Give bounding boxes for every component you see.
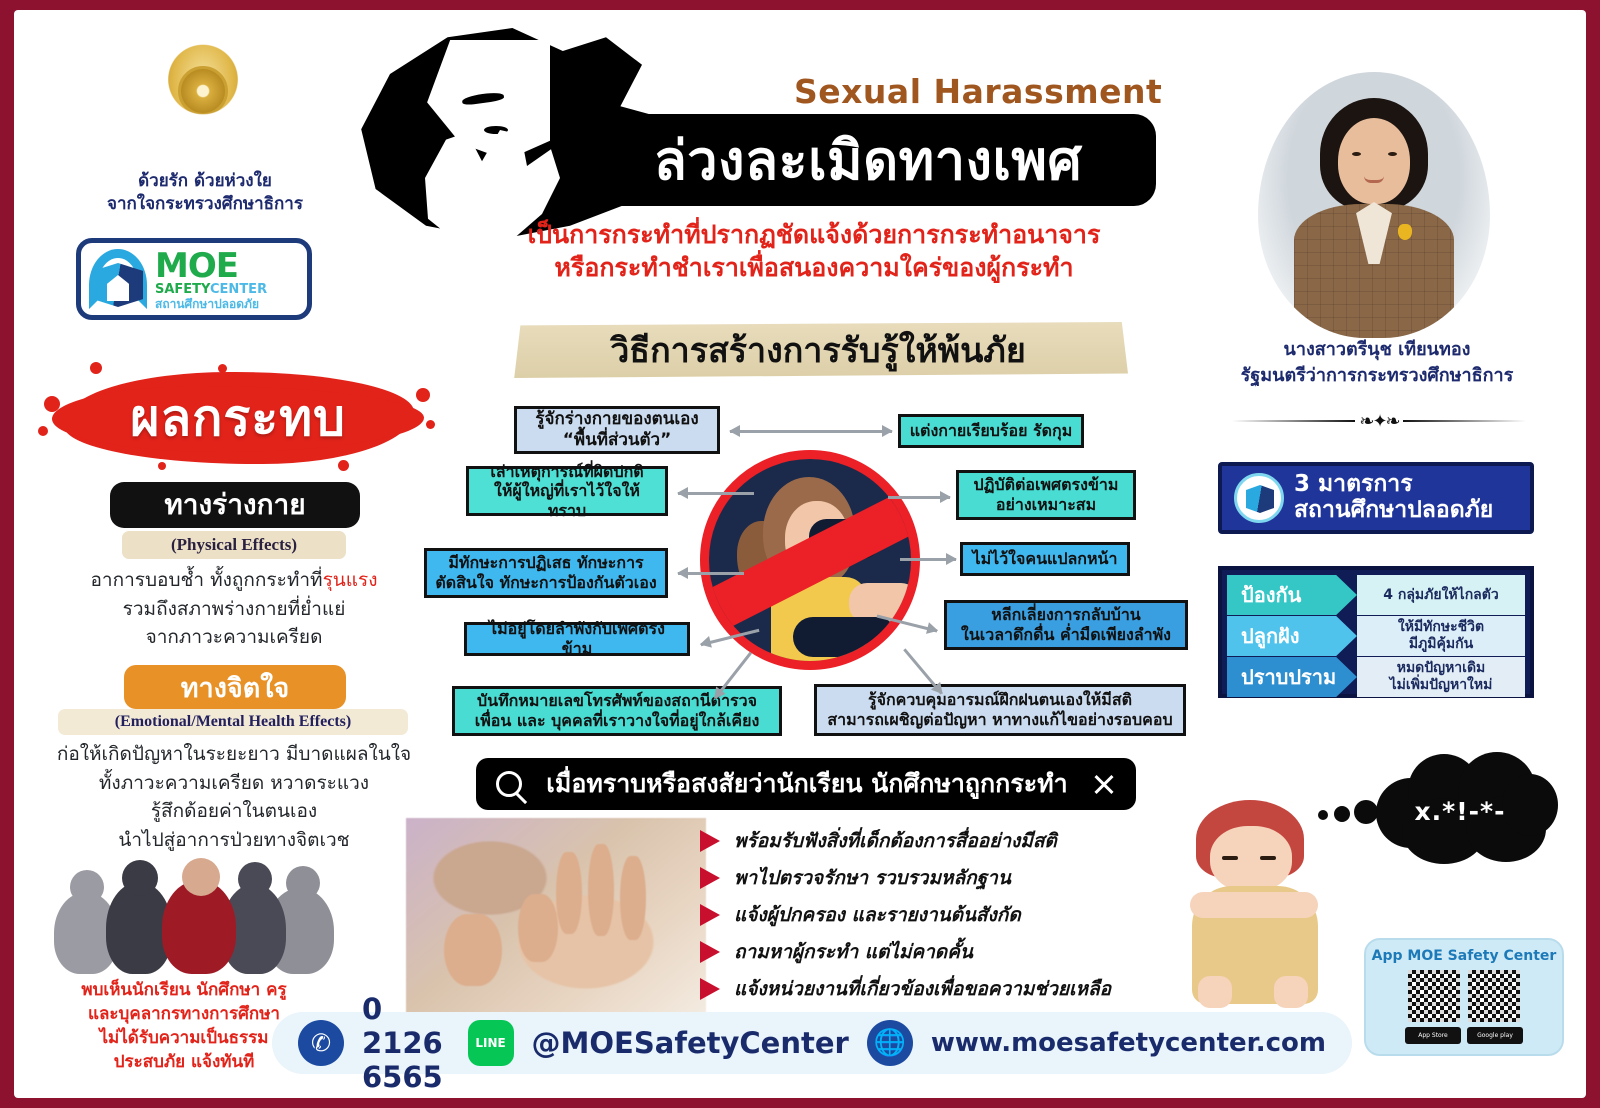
list-item: พร้อมรับฟังสิ่งที่เด็กต้องการสื่ออย่างมี… xyxy=(700,822,1170,859)
moe-safety-center-logo: MOE SAFETYCENTER สถานศึกษาปลอดภัย xyxy=(76,238,312,320)
sad-people-illustration xyxy=(54,858,354,973)
line-id[interactable]: @MOESafetyCenter xyxy=(532,1026,849,1060)
physical-effects-subtitle: (Physical Effects) xyxy=(122,531,346,559)
physical-line-1-highlight: รุนแรง xyxy=(323,569,378,591)
definition-line-2: หรือกระทำชำเราเพื่อสนองความใคร่ของผู้กระ… xyxy=(454,251,1174,284)
google-play-badge[interactable]: Google play xyxy=(1467,1027,1523,1044)
node-right-4-line1: รู้จักควบคุมอารมณ์ฝึกฝนตนเองให้มีสติ xyxy=(868,690,1132,710)
effects-heading-badge: ผลกระทบ xyxy=(38,362,438,474)
node-left-1-line2: ให้ผู้ใหญ่ที่เราไว้ใจให้ทราบ xyxy=(477,481,657,520)
logo-safety-text: SAFETY xyxy=(155,282,210,297)
measure-value-2-line2: ไม่เพิ่มปัญหาใหม่ xyxy=(1390,677,1493,694)
arrow-right-1 xyxy=(888,496,950,499)
bullet-arrow-icon xyxy=(700,830,720,852)
bullet-arrow-icon xyxy=(700,941,720,963)
arrow-left-0 xyxy=(730,430,826,433)
bullet-arrow-icon xyxy=(700,978,720,1000)
response-banner: เมื่อทราบหรือสงสัยว่านักเรียน นักศึกษาถู… xyxy=(476,758,1136,810)
node-left-1-line1: เล่าเหตุการณ์ที่ผิดปกติ xyxy=(490,462,643,482)
measures-header-line-2: สถานศึกษาปลอดภัย xyxy=(1294,498,1493,524)
search-icon xyxy=(496,771,522,797)
measure-row-instill: ปลูกฝัง ให้มีทักษะชีวิต มีภูมิคุ้มกัน xyxy=(1227,616,1525,656)
measure-label-2: ปราบปราม xyxy=(1227,657,1357,697)
measure-label-0: ป้องกัน xyxy=(1227,575,1357,615)
node-left-2-line2: ตัดสินใจ ทักษะการป้องกันตัวเอง xyxy=(435,573,656,593)
emotional-line-3: รู้สึกด้อยค่าในตนเอง xyxy=(32,797,436,826)
node-right-3-line1: หลีกเลี่ยงการกลับบ้าน xyxy=(991,605,1141,625)
response-banner-text: เมื่อทราบหรือสงสัยว่านักเรียน นักศึกษาถู… xyxy=(534,764,1080,804)
prevention-node-left-1: เล่าเหตุการณ์ที่ผิดปกติ ให้ผู้ใหญ่ที่เรา… xyxy=(466,466,668,516)
emotional-effects-subtitle: (Emotional/Mental Health Effects) xyxy=(58,709,408,735)
minister-position-text: รัฐมนตรีว่าการกระทรวงศึกษาธิการ xyxy=(1224,363,1530,389)
prevention-banner-text: วิธีการสร้างการรับรู้ให้พ้นภัย xyxy=(610,323,1026,377)
prevention-node-right-1: ปฏิบัติต่อเพศตรงข้าม อย่างเหมาะสม xyxy=(956,470,1136,520)
node-left-0-line1: รู้จักร่างกายของตนเอง xyxy=(535,409,698,430)
node-right-3-line2: ในเวลาดึกดื่น ค่ำมืดเพียงลำพัง xyxy=(961,625,1171,645)
node-left-0-line2: “พื้นที่ส่วนตัว” xyxy=(563,430,672,451)
website-url[interactable]: www.moesafetycenter.com xyxy=(931,1028,1326,1058)
arrow-left-1 xyxy=(678,492,754,495)
ministry-emblem-icon xyxy=(148,36,258,164)
line-icon: LINE xyxy=(468,1020,514,1066)
node-right-2-line1: ไม่ไว้ใจคนแปลกหน้า xyxy=(973,549,1118,569)
shield-icon xyxy=(89,249,147,309)
node-left-4-line2: เพื่อน และ บุคคลที่เราวางใจที่อยู่ใกล้เค… xyxy=(475,711,760,731)
contact-bar: ✆ 0 2126 6565 LINE @MOESafetyCenter 🌐 ww… xyxy=(272,1012,1352,1074)
qr-code-ios[interactable] xyxy=(1408,970,1460,1022)
node-right-4-line2: สามารถเผชิญต่อปัญหา หาทางแก้ไขอย่างรอบคอ… xyxy=(827,710,1172,730)
logo-center-text: CENTER xyxy=(210,282,267,297)
measure-value-0-line1: 4 กลุ่มภัยให้ไกลตัว xyxy=(1383,587,1498,604)
three-measures-header: 3 มาตรการ สถานศึกษาปลอดภัย xyxy=(1218,462,1534,534)
english-title: Sexual Harassment xyxy=(794,72,1162,111)
arrow-left-2 xyxy=(678,572,744,575)
prevention-node-left-2: มีทักษะการปฏิเสธ ทักษะการ ตัดสินใจ ทักษะ… xyxy=(424,548,668,598)
thought-bubble: x.*!-*- xyxy=(1362,752,1558,870)
emotional-line-4: นำไปสู่อาการป่วยทางจิตเวช xyxy=(32,826,436,855)
emotional-effects-body: ก่อให้เกิดปัญหาในระยะยาว มีบาดแผลในใจ ทั… xyxy=(32,740,436,854)
measure-label-1: ปลูกฝัง xyxy=(1227,616,1357,656)
measure-value-0: 4 กลุ่มภัยให้ไกลตัว xyxy=(1357,575,1525,615)
hands-photo xyxy=(406,818,706,1018)
step-text-2: แจ้งผู้ปกครอง และรายงานต้นสังกัด xyxy=(734,900,1021,930)
minister-name-text: นางสาวตรีนุช เทียนทอง xyxy=(1224,337,1530,363)
phone-number[interactable]: 0 2126 6565 xyxy=(362,992,450,1094)
thai-title-text: ล่วงละเมิดทางเพศ xyxy=(654,117,1083,203)
measure-value-1-line2: มีภูมิคุ้มกัน xyxy=(1409,636,1473,653)
globe-icon: 🌐 xyxy=(867,1020,913,1066)
effects-heading-text: ผลกระทบ xyxy=(38,362,438,474)
bullet-arrow-icon xyxy=(700,904,720,926)
alert-line-1: พบเห็นนักเรียน นักศึกษา ครู xyxy=(34,978,334,1002)
poster-root: ด้วยรัก ด้วยห่วงใย จากใจกระทรวงศึกษาธิกา… xyxy=(0,0,1600,1108)
thai-title-banner: ล่วงละเมิดทางเพศ xyxy=(580,114,1156,206)
prevention-node-right-0: แต่งกายเรียบร้อย รัดกุม xyxy=(898,414,1084,448)
thought-bubble-text: x.*!-*- xyxy=(1362,752,1558,870)
list-item: แจ้งหน่วยงานที่เกี่ยวข้องเพื่อขอความช่วย… xyxy=(700,970,1170,1007)
physical-line-1-pre: อาการบอบช้ำ ทั้งถูกกระทำที่ xyxy=(91,569,323,591)
emotional-line-1: ก่อให้เกิดปัญหาในระยะยาว มีบาดแผลในใจ xyxy=(32,740,436,769)
measure-value-2-line1: หมดปัญหาเดิม xyxy=(1397,660,1486,677)
poster-inner: ด้วยรัก ด้วยห่วงใย จากใจกระทรวงศึกษาธิกา… xyxy=(14,10,1586,1098)
list-item: แจ้งผู้ปกครอง และรายงานต้นสังกัด xyxy=(700,896,1170,933)
measures-header-line-1: 3 มาตรการ xyxy=(1294,472,1493,498)
physical-effects-body: อาการบอบช้ำ ทั้งถูกกระทำที่รุนแรง รวมถึง… xyxy=(36,566,432,652)
emotional-line-2: ทั้งภาวะความเครียด หวาดระแวง xyxy=(32,769,436,798)
prevention-node-left-3: ไม่อยู่โดยลำพังกับเพศตรงข้าม xyxy=(464,622,690,656)
slogan-line-1: ด้วยรัก ด้วยห่วงใย xyxy=(74,170,336,193)
app-download-card[interactable]: App MOE Safety Center App Store Google p… xyxy=(1364,938,1564,1056)
phone-icon: ✆ xyxy=(298,1020,344,1066)
arrow-right-2 xyxy=(900,558,956,561)
step-text-1: พาไปตรวจรักษา รวบรวมหลักฐาน xyxy=(734,863,1011,893)
sad-child-illustration xyxy=(1156,800,1346,1015)
prevention-banner: วิธีการสร้างการรับรู้ให้พ้นภัย xyxy=(508,322,1128,378)
logo-moe-text: MOE xyxy=(155,249,267,283)
step-text-4: แจ้งหน่วยงานที่เกี่ยวข้องเพื่อขอความช่วย… xyxy=(734,974,1111,1004)
definition-text: เป็นการกระทำที่ปรากฏชัดแจ้งด้วยการกระทำอ… xyxy=(454,218,1174,284)
logo-thai-text: สถานศึกษาปลอดภัย xyxy=(155,298,267,310)
ornamental-divider: ❧✦❧ xyxy=(1232,410,1526,432)
minister-portrait xyxy=(1258,72,1490,338)
prevention-node-right-4: รู้จักควบคุมอารมณ์ฝึกฝนตนเองให้มีสติ สาม… xyxy=(814,684,1186,736)
prevention-node-left-4: บันทึกหมายเลขโทรศัพท์ของสถานีตำรวจ เพื่อ… xyxy=(452,686,782,736)
measure-row-prevent: ป้องกัน 4 กลุ่มภัยให้ไกลตัว xyxy=(1227,575,1525,615)
qr-code-android[interactable] xyxy=(1468,970,1520,1022)
physical-effects-title: ทางร่างกาย xyxy=(110,482,360,528)
prevention-node-right-3: หลีกเลี่ยงการกลับบ้าน ในเวลาดึกดื่น ค่ำม… xyxy=(944,600,1188,650)
minister-caption: นางสาวตรีนุช เทียนทอง รัฐมนตรีว่าการกระท… xyxy=(1224,337,1530,388)
node-right-0-line1: แต่งกายเรียบร้อย รัดกุม xyxy=(910,421,1073,441)
slogan-line-2: จากใจกระทรวงศึกษาธิการ xyxy=(74,193,336,216)
ministry-slogan: ด้วยรัก ด้วยห่วงใย จากใจกระทรวงศึกษาธิกา… xyxy=(74,170,336,217)
measure-value-1-line1: ให้มีทักษะชีวิต xyxy=(1398,619,1484,636)
step-text-3: ถามหาผู้กระทำ แต่ไม่คาดคั้น xyxy=(734,937,973,967)
prevention-node-left-0: รู้จักร่างกายของตนเอง “พื้นที่ส่วนตัว” xyxy=(514,406,720,454)
measures-table: ป้องกัน 4 กลุ่มภัยให้ไกลตัว ปลูกฝัง ให้ม… xyxy=(1218,566,1534,698)
measure-value-1: ให้มีทักษะชีวิต มีภูมิคุ้มกัน xyxy=(1357,616,1525,656)
measure-row-suppress: ปราบปราม หมดปัญหาเดิม ไม่เพิ่มปัญหาใหม่ xyxy=(1227,657,1525,697)
physical-line-1: อาการบอบช้ำ ทั้งถูกกระทำที่รุนแรง xyxy=(36,566,432,595)
measure-value-2: หมดปัญหาเดิม ไม่เพิ่มปัญหาใหม่ xyxy=(1357,657,1525,697)
step-text-0: พร้อมรับฟังสิ่งที่เด็กต้องการสื่ออย่างมี… xyxy=(734,826,1057,856)
app-card-title: App MOE Safety Center xyxy=(1372,948,1557,964)
bullet-arrow-icon xyxy=(700,867,720,889)
definition-line-1: เป็นการกระทำที่ปรากฏชัดแจ้งด้วยการกระทำอ… xyxy=(454,218,1174,251)
physical-line-3: จากภาวะความเครียด xyxy=(36,623,432,652)
node-right-1-line1: ปฏิบัติต่อเพศตรงข้าม xyxy=(974,475,1119,495)
node-right-1-line2: อย่างเหมาะสม xyxy=(996,495,1096,515)
safety-shield-icon xyxy=(1234,473,1284,523)
node-left-2-line1: มีทักษะการปฏิเสธ ทักษะการ xyxy=(448,553,643,573)
close-icon xyxy=(1092,772,1116,796)
physical-line-2: รวมถึงสภาพร่างกายที่ย่ำแย่ xyxy=(36,595,432,624)
emotional-effects-title: ทางจิตใจ xyxy=(124,665,346,709)
arrow-right-0 xyxy=(814,430,892,433)
prevention-node-right-2: ไม่ไว้ใจคนแปลกหน้า xyxy=(960,542,1130,576)
list-item: พาไปตรวจรักษา รวบรวมหลักฐาน xyxy=(700,859,1170,896)
response-steps-list: พร้อมรับฟังสิ่งที่เด็กต้องการสื่ออย่างมี… xyxy=(700,822,1170,1007)
list-item: ถามหาผู้กระทำ แต่ไม่คาดคั้น xyxy=(700,933,1170,970)
app-store-badge[interactable]: App Store xyxy=(1405,1027,1461,1044)
node-left-3-line1: ไม่อยู่โดยลำพังกับเพศตรงข้าม xyxy=(475,619,679,658)
